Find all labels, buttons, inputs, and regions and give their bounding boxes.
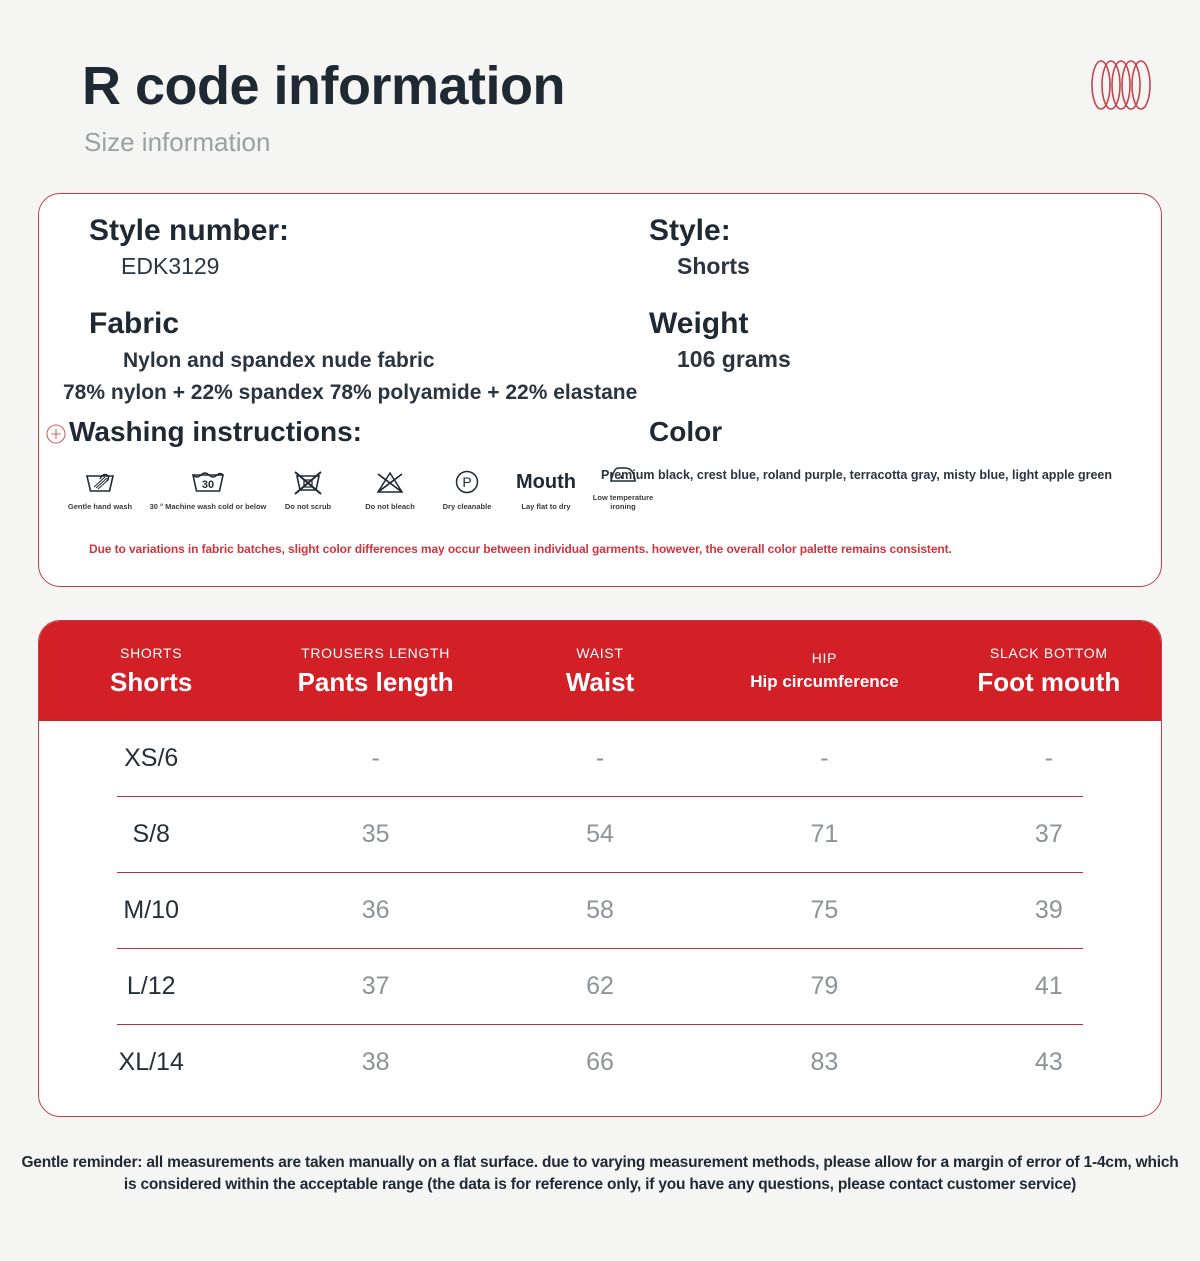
- low-temp-iron-caption: Low temperature ironing: [589, 494, 657, 511]
- machine-wash-30-icon: 30: [188, 465, 228, 499]
- plus-circle-icon: [45, 423, 67, 445]
- cell-foot-mouth: 37: [937, 820, 1161, 849]
- care-icon-lay-flat-to-dry: Mouth Lay flat to dry: [503, 465, 589, 512]
- cell-pants-length: 37: [263, 972, 487, 1001]
- footer-note: Gentle reminder: all measurements are ta…: [20, 1152, 1180, 1197]
- fabric-label: Fabric: [89, 305, 637, 343]
- lay-flat-to-dry-icon: Mouth: [516, 465, 576, 499]
- size-chart-page: R code information Size information Styl…: [0, 0, 1200, 1261]
- cell-hip: 83: [712, 1048, 936, 1077]
- do-not-bleach-caption: Do not bleach: [365, 503, 415, 512]
- cell-pants-length: 35: [263, 820, 487, 849]
- column-small-label: TROUSERS LENGTH: [301, 645, 450, 661]
- cell-hip: 71: [712, 820, 936, 849]
- column-header-pants-length: TROUSERS LENGTH Pants length: [263, 621, 487, 721]
- style-value: Shorts: [649, 250, 750, 282]
- care-icon-row: Gentle hand wash 30 30 ° Machine wash co…: [45, 456, 657, 511]
- column-big-label: Waist: [566, 667, 634, 698]
- cell-waist: -: [488, 744, 712, 773]
- column-big-label: Foot mouth: [977, 667, 1120, 698]
- svg-text:P: P: [462, 474, 471, 490]
- weight-block: Weight 106 grams: [649, 305, 791, 375]
- svg-text:30: 30: [202, 479, 214, 491]
- do-not-scrub-caption: Do not scrub: [285, 503, 331, 512]
- fabric-composition: 78% nylon + 22% spandex 78% polyamide + …: [63, 381, 637, 405]
- care-icon-do-not-scrub: Do not scrub: [267, 465, 349, 512]
- cell-pants-length: -: [263, 744, 487, 773]
- fabric-value: Nylon and spandex nude fabric: [89, 349, 637, 373]
- cell-foot-mouth: 41: [937, 972, 1161, 1001]
- column-header-foot-mouth: SLACK BOTTOM Foot mouth: [937, 621, 1161, 721]
- care-icon-hand-wash: Gentle hand wash: [51, 465, 149, 512]
- column-header-waist: WAIST Waist: [488, 621, 712, 721]
- washing-instructions-heading: Washing instructions:: [45, 416, 657, 448]
- washing-instructions-block: Washing instructions: Gentle hand wash: [45, 416, 657, 511]
- cell-waist: 66: [488, 1048, 712, 1077]
- style-number-block: Style number: EDK3129: [89, 212, 289, 282]
- cell-size: S/8: [39, 820, 263, 849]
- table-row: M/10 36 58 75 39: [39, 873, 1161, 948]
- column-header-size: SHORTS Shorts: [39, 621, 263, 721]
- column-small-label: HIP: [812, 650, 837, 666]
- care-icon-low-temp-iron: Low temperature ironing: [589, 456, 657, 511]
- dry-clean-p-icon: P: [452, 465, 482, 499]
- column-big-label: Shorts: [110, 667, 192, 698]
- lay-flat-to-dry-caption: Lay flat to dry: [521, 503, 570, 512]
- column-header-hip: HIP Hip circumference: [712, 621, 936, 721]
- cell-size: L/12: [39, 972, 263, 1001]
- color-block: Color Premium black, crest blue, roland …: [649, 416, 1112, 482]
- care-icon-machine-wash: 30 30 ° Machine wash cold or below: [149, 465, 267, 512]
- cell-pants-length: 36: [263, 896, 487, 925]
- cell-foot-mouth: -: [937, 744, 1161, 773]
- coil-rings-logo: [1084, 56, 1162, 114]
- machine-wash-caption: 30 ° Machine wash cold or below: [150, 503, 267, 512]
- cell-hip: 79: [712, 972, 936, 1001]
- cell-waist: 58: [488, 896, 712, 925]
- product-info-card: Style number: EDK3129 Fabric Nylon and s…: [38, 193, 1162, 587]
- style-label: Style:: [649, 212, 750, 250]
- weight-value: 106 grams: [649, 343, 791, 375]
- washing-instructions-label: Washing instructions:: [69, 416, 362, 448]
- color-label: Color: [649, 416, 1112, 448]
- style-block: Style: Shorts: [649, 212, 750, 282]
- cell-size: M/10: [39, 896, 263, 925]
- page-header: R code information Size information: [0, 0, 1200, 180]
- column-big-label: Hip circumference: [750, 672, 898, 692]
- dry-clean-caption: Dry cleanable: [443, 503, 492, 512]
- table-row: L/12 37 62 79 41: [39, 949, 1161, 1024]
- fabric-block: Fabric Nylon and spandex nude fabric 78%…: [89, 305, 637, 405]
- hand-wash-icon: [83, 465, 117, 499]
- cell-hip: -: [712, 744, 936, 773]
- column-small-label: SLACK BOTTOM: [990, 645, 1108, 661]
- page-subtitle: Size information: [84, 127, 270, 158]
- size-table-card: SHORTS Shorts TROUSERS LENGTH Pants leng…: [38, 620, 1162, 1117]
- cell-hip: 75: [712, 896, 936, 925]
- care-icon-dry-clean: P Dry cleanable: [431, 465, 503, 512]
- weight-label: Weight: [649, 305, 791, 343]
- size-table-header: SHORTS Shorts TROUSERS LENGTH Pants leng…: [39, 621, 1161, 721]
- hand-wash-caption: Gentle hand wash: [68, 503, 132, 512]
- style-number-value: EDK3129: [89, 250, 289, 282]
- cell-size: XL/14: [39, 1048, 263, 1077]
- cell-pants-length: 38: [263, 1048, 487, 1077]
- table-row: S/8 35 54 71 37: [39, 797, 1161, 872]
- column-small-label: WAIST: [576, 645, 623, 661]
- cell-waist: 54: [488, 820, 712, 849]
- do-not-bleach-icon: [373, 465, 407, 499]
- table-row: XL/14 38 66 83 43: [39, 1025, 1161, 1100]
- column-big-label: Pants length: [298, 667, 454, 698]
- cell-foot-mouth: 39: [937, 896, 1161, 925]
- style-number-label: Style number:: [89, 212, 289, 250]
- cell-waist: 62: [488, 972, 712, 1001]
- color-disclaimer: Due to variations in fabric batches, sli…: [89, 542, 1109, 556]
- page-title: R code information: [82, 55, 565, 117]
- do-not-scrub-icon: [291, 465, 325, 499]
- table-row: XS/6 - - - -: [39, 721, 1161, 796]
- column-small-label: SHORTS: [120, 645, 182, 661]
- care-icon-do-not-bleach: Do not bleach: [349, 465, 431, 512]
- cell-foot-mouth: 43: [937, 1048, 1161, 1077]
- color-value: Premium black, crest blue, roland purple…: [601, 468, 1112, 482]
- cell-size: XS/6: [39, 744, 263, 773]
